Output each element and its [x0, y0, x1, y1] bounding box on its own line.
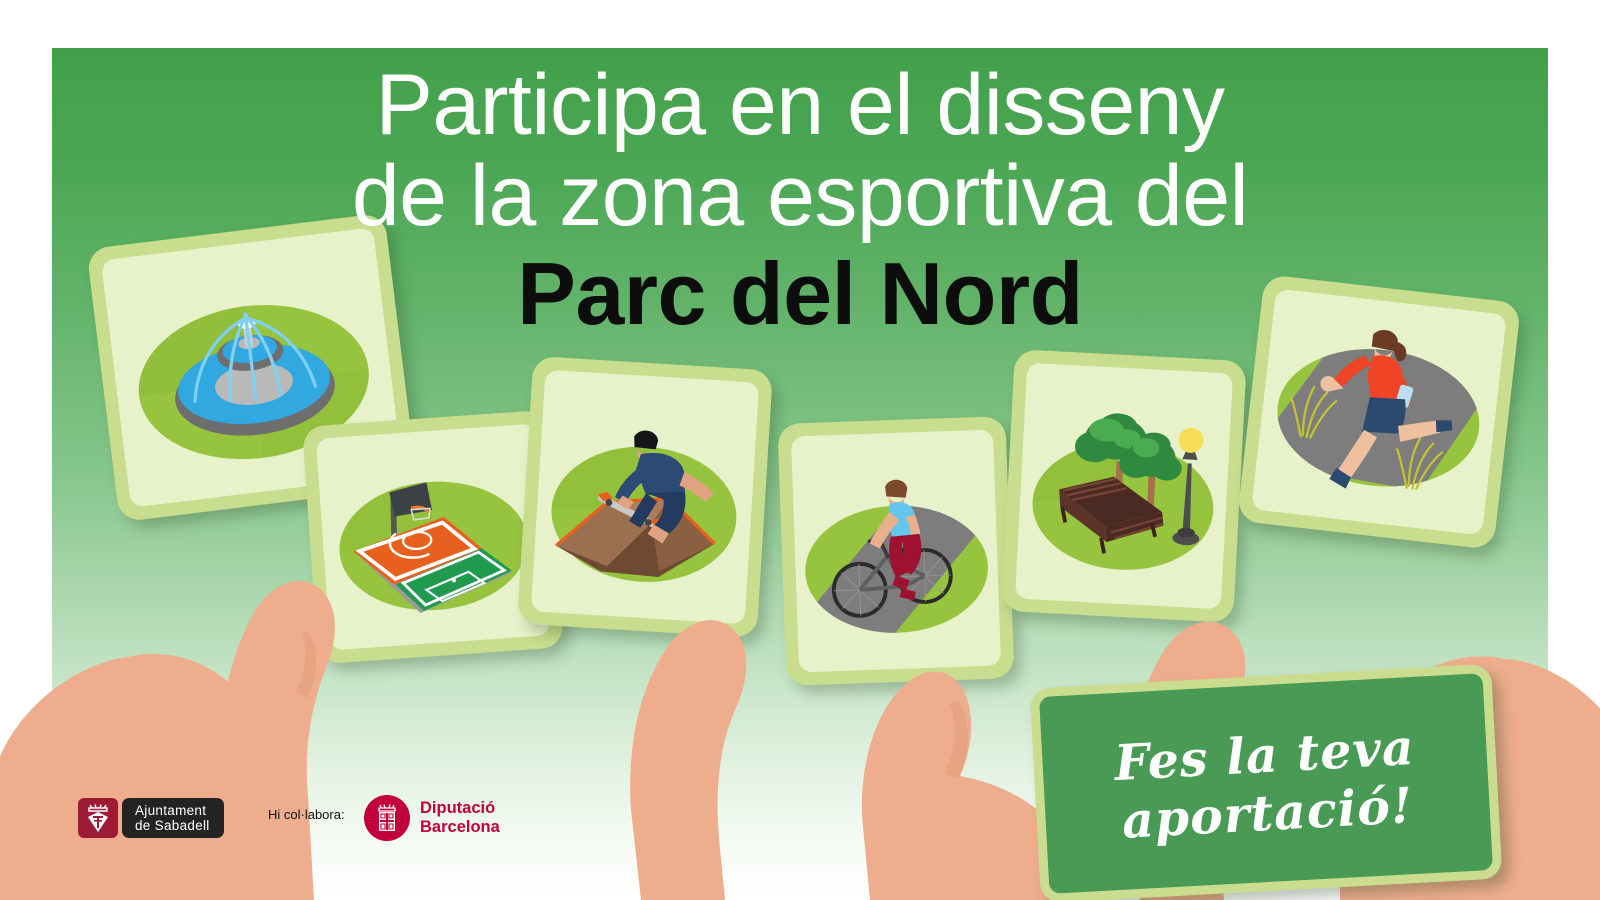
- sabadell-line-2: de Sabadell: [135, 818, 210, 833]
- footer: Ajuntament de Sabadell Hi col·labora: Di…: [0, 770, 1600, 900]
- diputacio-crest-icon: [364, 795, 410, 841]
- sabadell-crest-icon: [78, 798, 118, 838]
- diputacio-name: Diputació Barcelona: [420, 799, 500, 837]
- diputacio-line-1: Diputació: [420, 799, 500, 818]
- diputacio-line-2: Barcelona: [420, 818, 500, 837]
- logo-ajuntament-sabadell[interactable]: Ajuntament de Sabadell: [78, 798, 224, 838]
- banner-root: Participa en el disseny de la zona espor…: [0, 0, 1600, 900]
- logo-diputacio-barcelona[interactable]: Diputació Barcelona: [364, 795, 500, 841]
- sabadell-line-1: Ajuntament: [135, 803, 210, 818]
- sabadell-name: Ajuntament de Sabadell: [122, 798, 224, 838]
- collaborate-label: Hi col·labora:: [268, 807, 345, 822]
